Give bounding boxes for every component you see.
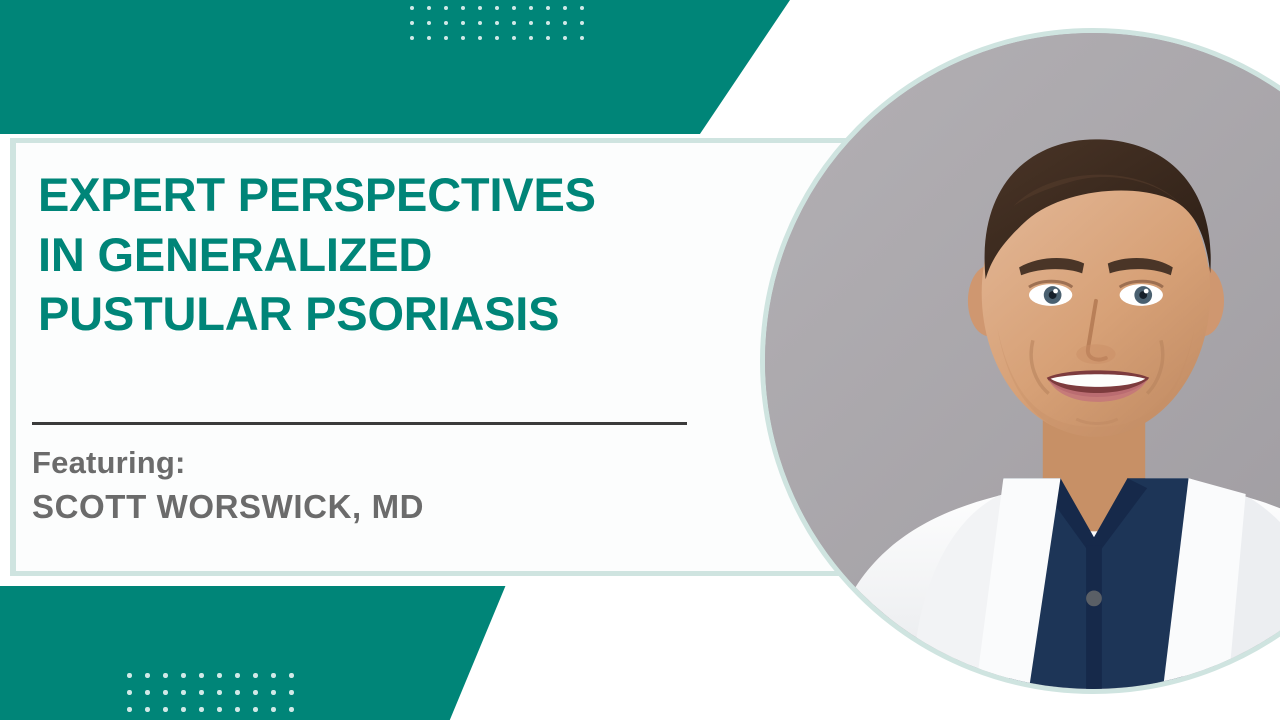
grid-dot xyxy=(289,707,294,712)
grid-dot xyxy=(546,21,550,25)
grid-dot xyxy=(461,21,465,25)
grid-dot xyxy=(563,21,567,25)
grid-dot xyxy=(235,673,240,678)
grid-dot xyxy=(478,36,482,40)
grid-dot xyxy=(145,690,150,695)
grid-dot xyxy=(253,673,258,678)
grid-dot xyxy=(217,690,222,695)
dot-grid-top-icon xyxy=(410,6,597,51)
grid-dot xyxy=(495,21,499,25)
grid-dot xyxy=(478,21,482,25)
grid-dot xyxy=(444,6,448,10)
grid-dot xyxy=(529,21,533,25)
grid-dot xyxy=(271,673,276,678)
featuring-block: Featuring: SCOTT WORSWICK, MD xyxy=(32,443,424,529)
grid-dot xyxy=(546,36,550,40)
featuring-label: Featuring: xyxy=(32,443,424,482)
grid-dot xyxy=(163,673,168,678)
grid-dot xyxy=(580,21,584,25)
grid-dot xyxy=(181,690,186,695)
grid-dot xyxy=(127,690,132,695)
grid-dot xyxy=(580,36,584,40)
grid-dot xyxy=(163,707,168,712)
grid-dot xyxy=(163,690,168,695)
page-title-line-1: EXPERT PERSPECTIVES xyxy=(38,165,738,225)
slide-canvas: EXPERT PERSPECTIVES IN GENERALIZED PUSTU… xyxy=(0,0,1280,720)
grid-dot xyxy=(127,673,132,678)
page-title-line-3: PUSTULAR PSORIASIS xyxy=(38,284,738,344)
grid-dot xyxy=(235,690,240,695)
dot-grid-bottom-icon xyxy=(127,673,307,720)
grid-dot xyxy=(529,36,533,40)
grid-dot xyxy=(427,21,431,25)
portrait-photo-icon xyxy=(765,33,1280,689)
grid-dot xyxy=(529,6,533,10)
page-title-line-2: IN GENERALIZED xyxy=(38,225,738,285)
divider xyxy=(32,422,687,425)
grid-dot xyxy=(580,6,584,10)
grid-dot xyxy=(546,6,550,10)
grid-dot xyxy=(444,36,448,40)
grid-dot xyxy=(495,6,499,10)
grid-dot xyxy=(495,36,499,40)
page-title: EXPERT PERSPECTIVES IN GENERALIZED PUSTU… xyxy=(38,165,738,344)
grid-dot xyxy=(410,6,414,10)
grid-dot xyxy=(427,6,431,10)
grid-dot xyxy=(145,673,150,678)
grid-dot xyxy=(563,36,567,40)
grid-dot xyxy=(563,6,567,10)
speaker-portrait xyxy=(760,28,1280,694)
grid-dot xyxy=(271,707,276,712)
grid-dot xyxy=(145,707,150,712)
grid-dot xyxy=(199,673,204,678)
grid-dot xyxy=(271,690,276,695)
grid-dot xyxy=(235,707,240,712)
teal-banner-top xyxy=(0,0,790,134)
grid-dot xyxy=(512,6,516,10)
grid-dot xyxy=(199,707,204,712)
grid-dot xyxy=(217,673,222,678)
grid-dot xyxy=(461,6,465,10)
grid-dot xyxy=(512,36,516,40)
grid-dot xyxy=(217,707,222,712)
grid-dot xyxy=(127,707,132,712)
grid-dot xyxy=(461,36,465,40)
grid-dot xyxy=(512,21,516,25)
grid-dot xyxy=(199,690,204,695)
featuring-speaker-name: SCOTT WORSWICK, MD xyxy=(32,486,424,529)
grid-dot xyxy=(181,707,186,712)
grid-dot xyxy=(289,690,294,695)
grid-dot xyxy=(253,707,258,712)
grid-dot xyxy=(289,673,294,678)
grid-dot xyxy=(181,673,186,678)
grid-dot xyxy=(478,6,482,10)
grid-dot xyxy=(444,21,448,25)
grid-dot xyxy=(410,21,414,25)
grid-dot xyxy=(253,690,258,695)
grid-dot xyxy=(427,36,431,40)
grid-dot xyxy=(410,36,414,40)
